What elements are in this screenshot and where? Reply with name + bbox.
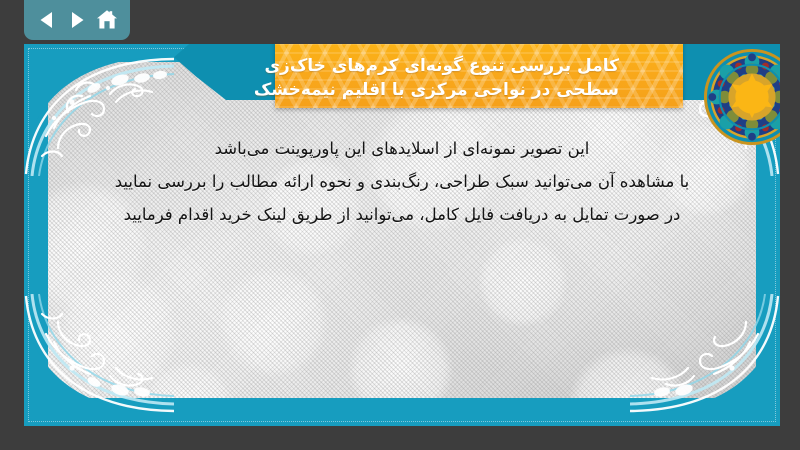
previous-slide-button[interactable] <box>34 7 60 33</box>
bokeh-circle <box>143 362 233 398</box>
slide-navigation-bar <box>24 0 130 40</box>
slide-title-line-1: کامل بررسی تنوع گونه‌ای کرم‌های خاک‌زی <box>264 54 619 78</box>
slide-body-text: این تصویر نمونه‌ای از اسلایدهای این پاور… <box>24 132 780 231</box>
triangle-left-icon <box>36 9 58 31</box>
body-line-2: با مشاهده آن می‌توانید سبک طراحی، رنگ‌بن… <box>44 165 760 198</box>
bokeh-circle <box>58 272 178 392</box>
bokeh-circle <box>478 237 568 327</box>
slide-frame: کامل بررسی تنوع گونه‌ای کرم‌های خاک‌زی س… <box>24 44 780 426</box>
body-line-3: در صورت تمایل به دریافت فایل کامل، می‌تو… <box>44 198 760 231</box>
home-button[interactable] <box>94 7 120 33</box>
bokeh-circle <box>568 347 688 398</box>
slide-title-banner: کامل بررسی تنوع گونه‌ای کرم‌های خاک‌زی س… <box>275 44 683 108</box>
bokeh-circle <box>218 267 328 377</box>
next-slide-button[interactable] <box>64 7 90 33</box>
triangle-right-icon <box>66 9 88 31</box>
presentation-viewer: کامل بررسی تنوع گونه‌ای کرم‌های خاک‌زی س… <box>0 0 800 450</box>
bokeh-circle <box>348 317 453 398</box>
body-line-1: این تصویر نمونه‌ای از اسلایدهای این پاور… <box>44 132 760 165</box>
home-icon <box>95 8 119 32</box>
slide-title-line-2: سطحی در نواحی مرکزی با اقلیم نیمه‌خشک <box>254 78 619 102</box>
